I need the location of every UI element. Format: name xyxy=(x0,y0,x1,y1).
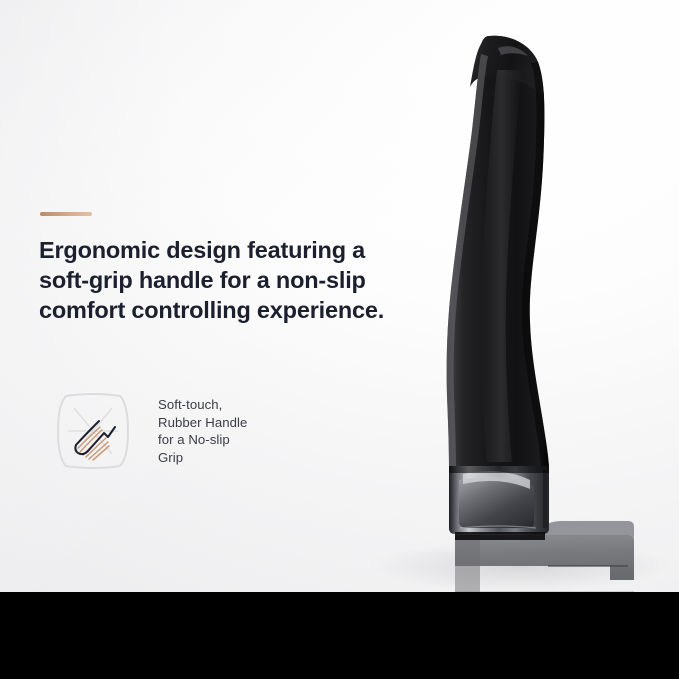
feature-line-2: Rubber Handle xyxy=(158,414,323,432)
brand-footer: DURA LIVING Cook better. Eat better. Liv… xyxy=(0,592,679,679)
headline-line-3: comfort controlling experience. xyxy=(39,295,399,325)
page-headline: Ergonomic design featuring a soft-grip h… xyxy=(39,235,399,325)
feature-line-1: Soft-touch, xyxy=(158,396,323,414)
feature-description: Soft-touch, Rubber Handle for a No-slip … xyxy=(158,396,323,466)
headline-line-2: soft-grip handle for a non-slip xyxy=(39,265,399,295)
feature-line-3: for a No-slip xyxy=(158,431,323,449)
accent-rule xyxy=(40,212,92,216)
product-marketing-image: Ergonomic design featuring a soft-grip h… xyxy=(0,0,679,679)
feature-callout: Soft-touch, Rubber Handle for a No-slip … xyxy=(52,390,322,502)
headline-line-1: Ergonomic design featuring a xyxy=(39,235,399,265)
feature-line-4: Grip xyxy=(158,449,323,467)
rubber-grip-handle-icon xyxy=(52,390,134,472)
